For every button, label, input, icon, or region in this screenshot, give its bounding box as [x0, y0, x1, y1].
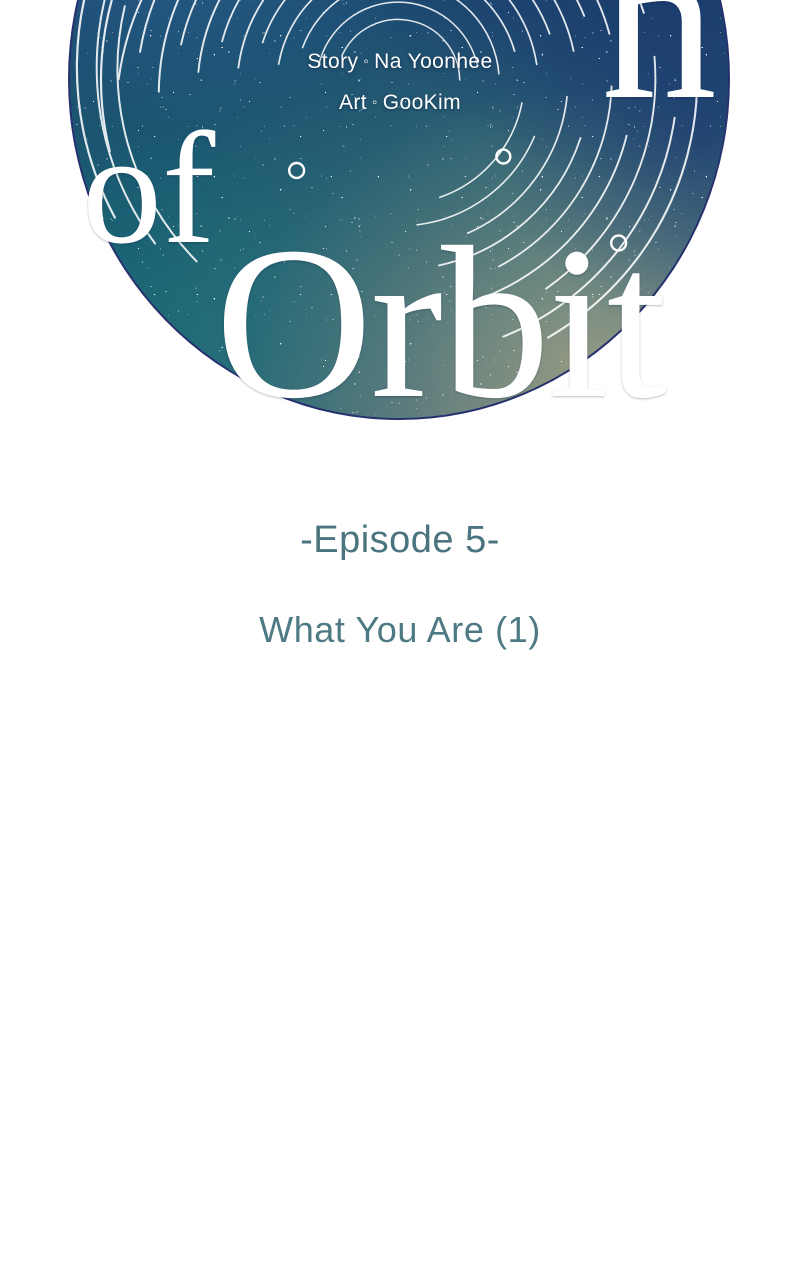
credit-art-label: Art [339, 91, 367, 114]
episode-number: -Episode 5- [0, 520, 800, 562]
credit-art: Art◦GooKim [0, 91, 800, 115]
blank-content-area [0, 700, 800, 1280]
credit-separator-icon: ◦ [363, 53, 369, 70]
episode-title: What You Are (1) [0, 610, 800, 650]
credit-story: Story◦Na Yoonhee [0, 50, 800, 74]
planet-node-2-icon [496, 150, 510, 164]
cover-artwork: n of Orbit Story◦Na Yoonhee Art◦GooKim [0, 0, 800, 440]
episode-heading-block: -Episode 5- What You Are (1) [0, 520, 800, 649]
credit-separator-icon: ◦ [372, 94, 378, 111]
credit-story-label: Story [307, 50, 358, 73]
credit-art-name: GooKim [383, 91, 461, 114]
webtoon-title-page: n of Orbit Story◦Na Yoonhee Art◦GooKim -… [0, 0, 800, 1280]
credits-block: Story◦Na Yoonhee Art◦GooKim [0, 50, 800, 132]
credit-story-name: Na Yoonhee [374, 50, 492, 73]
planet-node-1-icon [289, 163, 304, 178]
